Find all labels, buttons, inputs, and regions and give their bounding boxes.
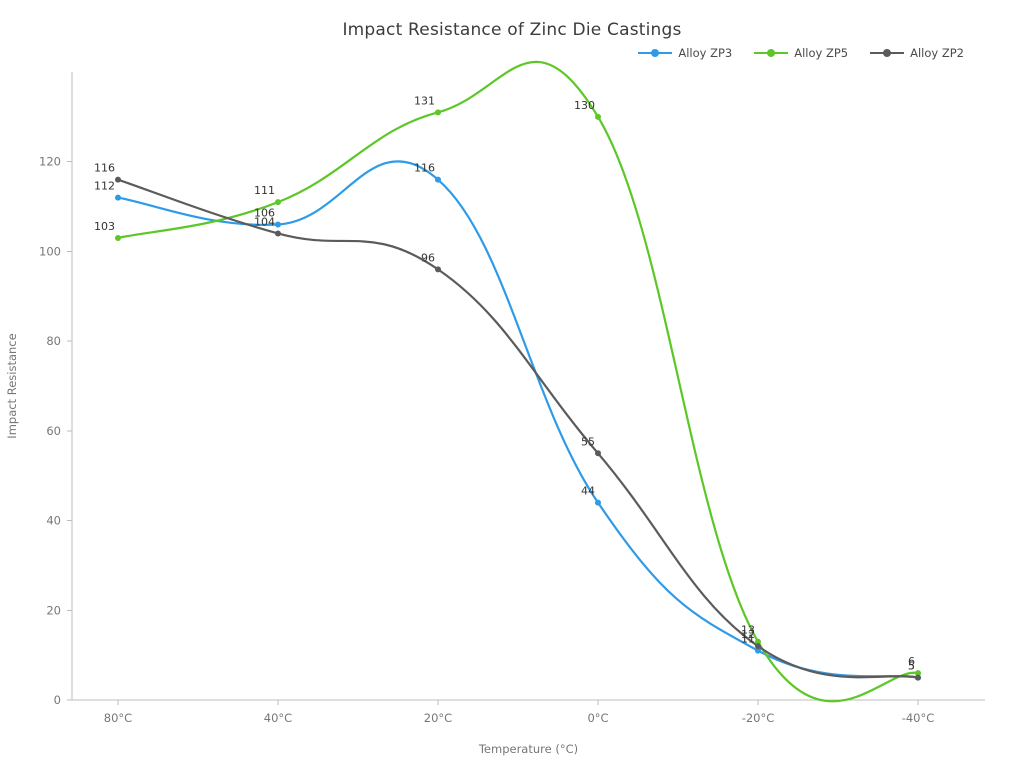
data-point-label: 116 [414,162,435,175]
data-point-label: 44 [581,485,595,498]
y-tick-label: 0 [54,693,61,707]
data-point-marker[interactable] [275,222,281,228]
data-point-marker[interactable] [915,675,921,681]
data-point-marker[interactable] [435,177,441,183]
x-tick-label: -40°C [902,711,935,725]
y-tick-label: 40 [46,514,61,528]
series-line-alloy-zp2 [118,180,918,678]
data-point-label: 5 [908,660,915,673]
y-tick-label: 100 [39,244,61,258]
data-point-marker[interactable] [115,195,121,201]
y-axis-title: Impact Resistance [5,333,19,438]
data-point-label: 104 [254,215,275,228]
data-point-marker[interactable] [755,643,761,649]
data-point-marker[interactable] [595,450,601,456]
data-point-marker[interactable] [435,109,441,115]
y-tick-label: 120 [39,155,61,169]
data-point-label: 103 [94,220,115,233]
data-point-marker[interactable] [115,177,121,183]
y-tick-label: 60 [46,424,61,438]
data-point-marker[interactable] [595,114,601,120]
x-tick-label: 40°C [264,711,292,725]
data-point-label: 130 [574,99,595,112]
y-tick-label: 20 [46,603,61,617]
x-tick-label: 20°C [424,711,452,725]
x-tick-label: -20°C [742,711,775,725]
data-point-marker[interactable] [435,266,441,272]
data-point-label: 111 [254,184,275,197]
data-point-marker[interactable] [275,199,281,205]
series-line-alloy-zp5 [118,62,918,701]
y-tick-label: 80 [46,334,61,348]
data-point-marker[interactable] [275,230,281,236]
chart-container: Impact Resistance of Zinc Die Castings A… [0,0,1024,768]
data-point-label: 55 [581,435,595,448]
data-point-marker[interactable] [115,235,121,241]
data-point-label: 116 [94,162,115,175]
plot-area: 02040608010012080°C40°C20°C0°C-20°C-40°C… [0,0,1024,768]
series-line-alloy-zp3 [118,161,918,677]
data-point-marker[interactable] [595,500,601,506]
data-point-label: 131 [414,94,435,107]
x-tick-label: 0°C [587,711,608,725]
data-point-label: 96 [421,251,435,264]
x-tick-label: 80°C [104,711,132,725]
data-point-label: 12 [741,628,755,641]
x-axis-title: Temperature (°C) [478,742,578,756]
data-point-label: 112 [94,180,115,193]
